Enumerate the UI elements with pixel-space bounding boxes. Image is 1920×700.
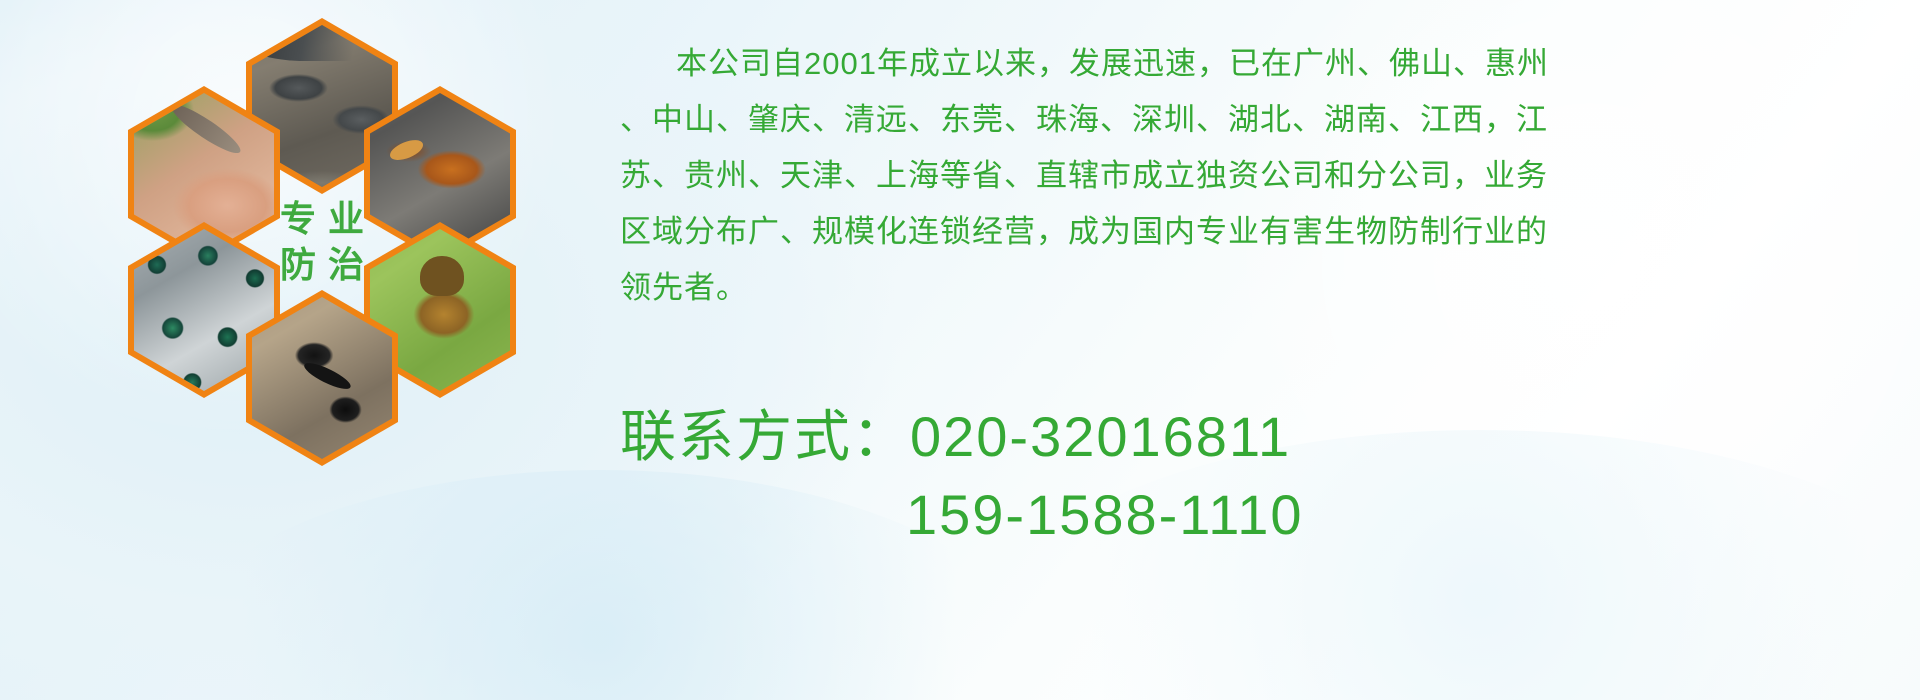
hexagon-photo-collage: 专业 防治 [86,12,586,572]
badge-line-1: 专业 [268,201,376,237]
intro-line-3: 苏、贵州、天津、上海等省、直辖市成立独资公司和分公司，业务 [620,148,1890,204]
promo-banner: 专业 防治 本公司自2001年成立以来，发展迅速，已在广州、佛山、惠州 、中山、… [0,0,1920,700]
contact-phone-secondary[interactable]: 159-1588-1110 [620,476,1900,554]
company-intro-paragraph: 本公司自2001年成立以来，发展迅速，已在广州、佛山、惠州 、中山、肇庆、清远、… [620,36,1890,316]
intro-line-2: 、中山、肇庆、清远、东莞、珠海、深圳、湖北、湖南、江西，江 [620,92,1890,148]
intro-line-1: 本公司自2001年成立以来，发展迅速，已在广州、佛山、惠州 [620,36,1890,92]
contact-label: 联系方式： [620,405,910,468]
center-badge-text: 专业 防治 [252,161,392,323]
intro-line-4: 区域分布广、规模化连锁经营，成为国内专业有害生物防制行业的 [620,204,1890,260]
contact-line-primary: 联系方式：020-32016811 [620,398,1900,476]
badge-line-2: 防治 [268,247,376,283]
contact-block: 联系方式：020-32016811 159-1588-1110 [620,398,1900,554]
center-badge-frame: 专业 防治 [252,161,392,323]
contact-phone-primary[interactable]: 020-32016811 [910,405,1291,468]
intro-line-5: 领先者。 [620,260,1890,316]
